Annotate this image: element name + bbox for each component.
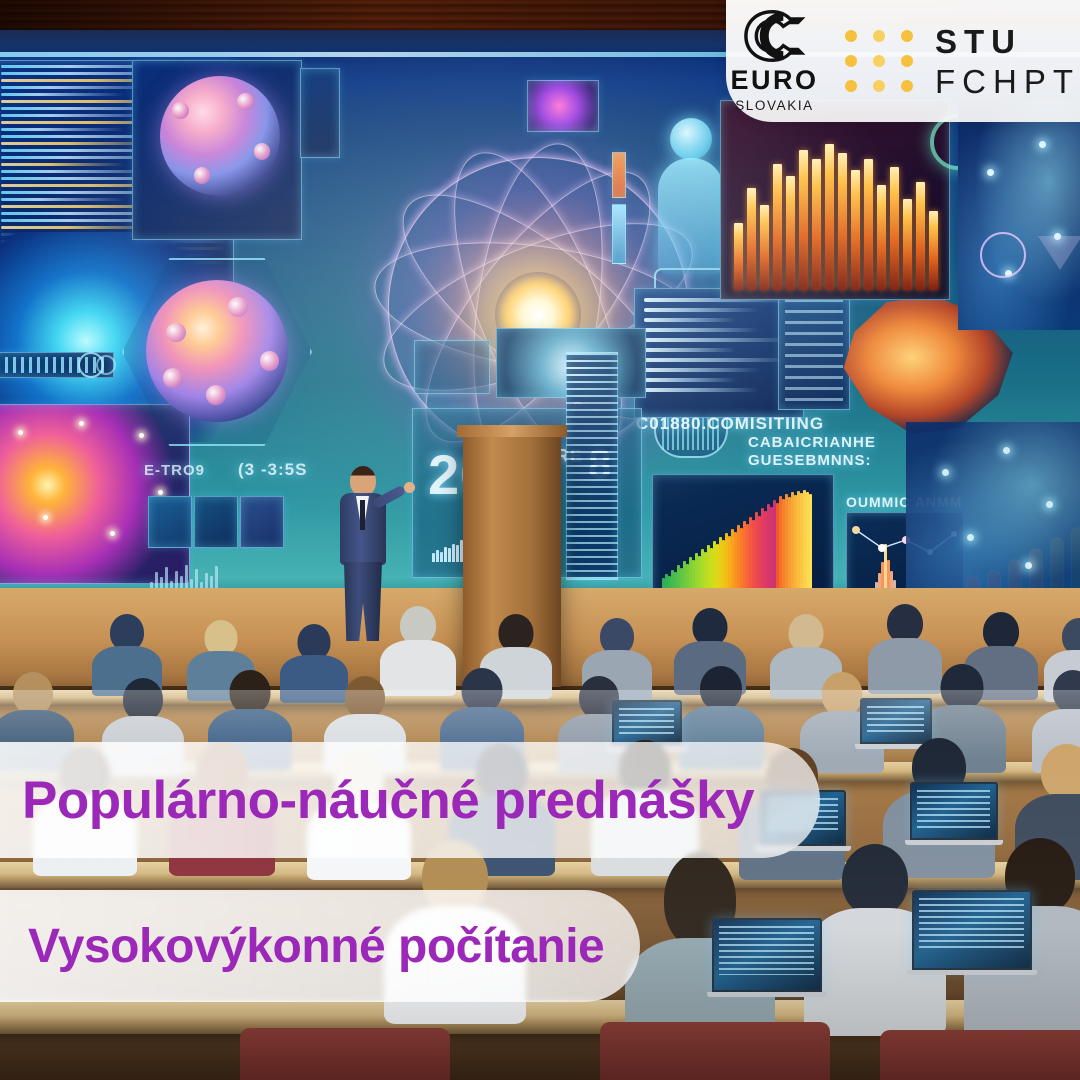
logo-badge: EURO SLOVAKIA STU FCHPT — [726, 0, 1080, 122]
vial-indicator — [612, 152, 626, 198]
series-title-banner: Populárno-náučné prednášky — [0, 742, 820, 858]
screen-label-guesebmnns: GUESEBMNNS: — [748, 452, 872, 469]
thumbnail-1 — [148, 496, 192, 548]
data-table-panel — [778, 292, 850, 410]
euro-slovakia-logo: EURO SLOVAKIA — [726, 9, 823, 113]
wave-network-visualisation — [906, 422, 1080, 600]
triangle-icon — [1038, 236, 1080, 270]
vial-indicator-2 — [612, 204, 626, 264]
fractal-burst-panel — [0, 404, 190, 584]
screen-label-cabaicrianhe: CABAICRIANHE — [748, 434, 876, 451]
screen-label-timecode: (3 -3:5S — [238, 460, 307, 480]
network-graph-right — [958, 100, 1080, 330]
stu-logo-line1: STU — [935, 25, 1080, 58]
protein-model-hex — [146, 280, 288, 422]
virus-model-top — [160, 76, 280, 196]
euro-logo-name: EURO — [730, 67, 818, 94]
spectrum-thumbnail-panel — [527, 80, 599, 132]
series-title-text: Populárno-náučné prednášky — [22, 770, 754, 831]
eye-icon — [96, 355, 116, 375]
circle-outline-icon — [980, 232, 1026, 278]
screen-label-e-tro9: E-TRO9 — [144, 462, 205, 479]
stu-logo-line2: FCHPT — [935, 65, 1080, 98]
topic-title-banner: Vysokovýkonné počítanie — [0, 890, 640, 1002]
readout-text-rows — [644, 298, 792, 398]
code-matrix-panel — [566, 352, 618, 580]
poster-root: E-TRO9 (3 -3:5S — [0, 0, 1080, 1080]
spectral-growth-chart — [662, 490, 812, 592]
icon-grid-panel — [300, 68, 340, 158]
stu-fchpt-logo: STU FCHPT — [935, 25, 1080, 98]
double-c-mark-icon — [740, 9, 810, 63]
nine-dot-grid-icon — [845, 30, 913, 92]
euro-logo-subtitle: SLOVAKIA — [735, 98, 814, 113]
topic-title-text: Vysokovýkonné počítanie — [28, 919, 604, 974]
mini-metric-panel — [414, 340, 490, 394]
thumbnail-3 — [240, 496, 284, 548]
warm-bar-chart — [734, 144, 938, 290]
screen-label-c01880: C01880.COMISITIING — [636, 414, 824, 434]
thumbnail-2 — [194, 496, 238, 548]
